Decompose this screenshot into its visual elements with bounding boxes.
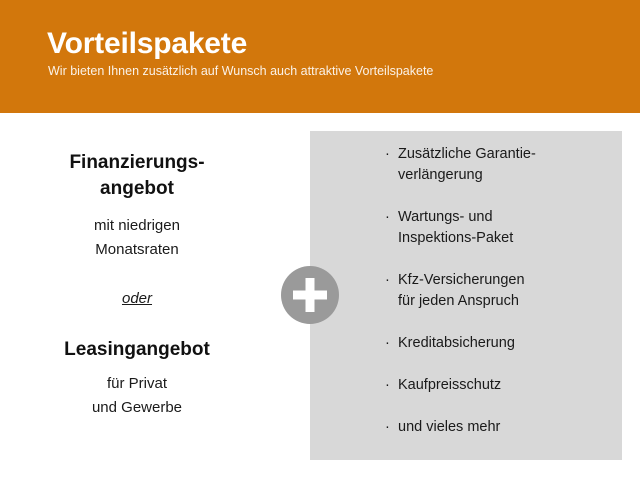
bullet-icon: ·	[385, 207, 390, 228]
bullet-icon: ·	[385, 270, 390, 291]
bullet-icon: ·	[385, 417, 390, 438]
offer-finance-subtext-line1: mit niedrigen	[94, 217, 180, 234]
list-item: · Kreditabsicherung	[385, 333, 615, 354]
list-item-line1: und vieles mehr	[398, 417, 615, 438]
list-item-line2: verlängerung	[398, 165, 615, 186]
offer-leasing-subtext-line1: für Privat	[107, 375, 167, 392]
offers-column: Finanzierungs- angebot mit niedrigen Mon…	[12, 150, 262, 420]
list-item-line2: Inspektions-Paket	[398, 228, 615, 249]
list-item: · Kaufpreisschutz	[385, 375, 615, 396]
list-item: · Kfz-Versicherungen für jeden Anspruch	[385, 270, 615, 312]
offer-finance-subtext: mit niedrigen Monatsraten	[12, 214, 262, 262]
list-item: · Zusätzliche Garantie- verlängerung	[385, 144, 615, 186]
plus-badge	[281, 266, 339, 324]
offer-leasing-heading: Leasingangebot	[12, 337, 262, 363]
offer-leasing-subtext-line2: und Gewerbe	[92, 399, 182, 416]
bullet-icon: ·	[385, 333, 390, 354]
offer-leasing-subtext: für Privat und Gewerbe	[12, 372, 262, 420]
list-item-line1: Zusätzliche Garantie-	[398, 144, 615, 165]
slide-root: Vorteilspakete Wir bieten Ihnen zusätzli…	[0, 0, 640, 480]
benefits-list: · Zusätzliche Garantie- verlängerung · W…	[385, 144, 615, 438]
offer-finance-subtext-line2: Monatsraten	[95, 241, 178, 258]
plus-icon	[281, 266, 339, 324]
list-item-line1: Kaufpreisschutz	[398, 375, 615, 396]
offer-separator-label: oder	[122, 290, 152, 307]
benefits-panel: · Zusätzliche Garantie- verlängerung · W…	[310, 131, 622, 460]
list-item: · und vieles mehr	[385, 417, 615, 438]
list-item-line1: Kfz-Versicherungen	[398, 270, 615, 291]
page-subtitle: Wir bieten Ihnen zusätzlich auf Wunsch a…	[48, 63, 433, 79]
bullet-icon: ·	[385, 144, 390, 165]
offer-separator: oder	[12, 288, 262, 310]
bullet-icon: ·	[385, 375, 390, 396]
offer-finance-heading-line1: Finanzierungs-	[69, 152, 204, 173]
offer-finance-heading-line2: angebot	[100, 178, 174, 199]
list-item-line2: für jeden Anspruch	[398, 291, 615, 312]
list-item-line1: Kreditabsicherung	[398, 333, 615, 354]
page-title: Vorteilspakete	[47, 27, 247, 61]
header-banner: Vorteilspakete Wir bieten Ihnen zusätzli…	[0, 0, 640, 113]
list-item: · Wartungs- und Inspektions-Paket	[385, 207, 615, 249]
offer-finance-heading: Finanzierungs- angebot	[12, 150, 262, 202]
list-item-line1: Wartungs- und	[398, 207, 615, 228]
